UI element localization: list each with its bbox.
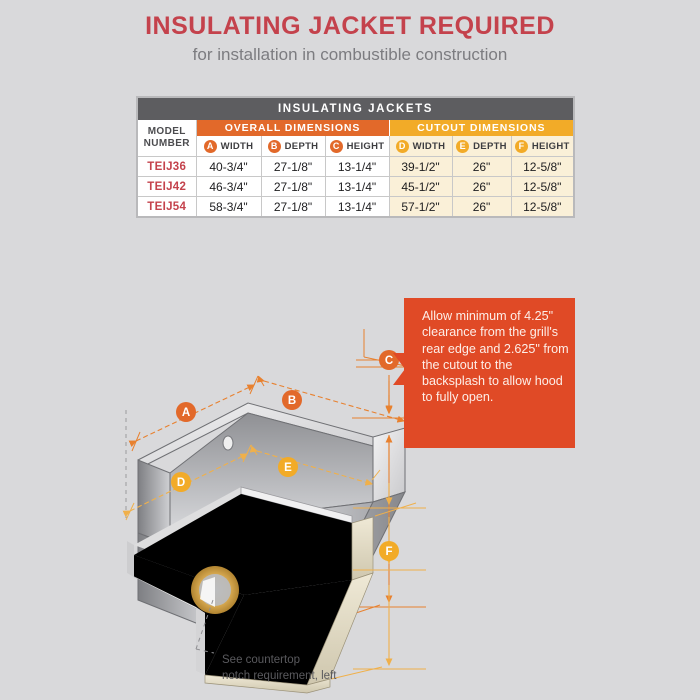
badge-f-icon: F <box>515 140 528 153</box>
badge-b-icon: B <box>268 140 281 153</box>
column-header-f: F HEIGHT <box>511 136 573 157</box>
cell-a: 46-3/4" <box>196 177 261 197</box>
page-title: INSULATING JACKET REQUIRED <box>0 12 700 41</box>
badge-e-icon: E <box>456 140 469 153</box>
badge-f-diagram-label: F <box>385 546 392 558</box>
cell-e: 26" <box>452 197 511 217</box>
cell-f: 12-5/8" <box>511 157 573 177</box>
table-band-title: INSULATING JACKETS <box>138 98 573 120</box>
badge-a-diagram-label: A <box>182 407 190 419</box>
cell-a: 40-3/4" <box>196 157 261 177</box>
model-header-line1: MODEL <box>138 126 196 138</box>
cell-b: 27-1/8" <box>261 177 325 197</box>
cell-d: 57-1/2" <box>389 197 452 217</box>
cell-e: 26" <box>452 157 511 177</box>
table-row: TEIJ36 40-3/4" 27-1/8" 13-1/4" 39-1/2" 2… <box>138 157 573 177</box>
cell-c: 13-1/4" <box>325 177 389 197</box>
notch-caption-line1: See countertop <box>222 652 422 668</box>
column-header-e: E DEPTH <box>452 136 511 157</box>
cell-model: TEIJ54 <box>138 197 196 217</box>
cell-c: 13-1/4" <box>325 157 389 177</box>
installation-diagrams: A B C <box>0 255 700 700</box>
page-root: INSULATING JACKET REQUIRED for installat… <box>0 0 700 700</box>
badge-e-diagram-label: E <box>284 462 292 474</box>
cell-c: 13-1/4" <box>325 197 389 217</box>
column-label-f: HEIGHT <box>532 141 570 152</box>
table-model-header: MODEL NUMBER <box>138 120 196 157</box>
badge-a-icon: A <box>204 140 217 153</box>
cell-f: 12-5/8" <box>511 177 573 197</box>
cell-a: 58-3/4" <box>196 197 261 217</box>
clearance-callout: Allow minimum of 4.25" clearance from th… <box>404 298 575 448</box>
badge-d-diagram-label: D <box>177 477 185 489</box>
page-subtitle: for installation in combustible construc… <box>0 45 700 65</box>
column-label-b: DEPTH <box>285 141 319 152</box>
notch-caption-line2: notch requirement, left <box>222 668 422 684</box>
badge-c-icon: C <box>330 140 343 153</box>
cell-d: 45-1/2" <box>389 177 452 197</box>
table-row: TEIJ54 58-3/4" 27-1/8" 13-1/4" 57-1/2" 2… <box>138 197 573 217</box>
table-group-cutout: CUTOUT DIMENSIONS <box>389 120 573 136</box>
column-header-a: A WIDTH <box>196 136 261 157</box>
badge-c-diagram-label: C <box>385 355 393 367</box>
column-label-c: HEIGHT <box>347 141 385 152</box>
cell-b: 27-1/8" <box>261 157 325 177</box>
clearance-callout-text: Allow minimum of 4.25" clearance from th… <box>422 308 570 406</box>
cell-d: 39-1/2" <box>389 157 452 177</box>
notch-caption: See countertop notch requirement, left <box>222 652 422 684</box>
insulating-jackets-table: INSULATING JACKETS MODEL NUMBER OVERALL … <box>136 96 575 218</box>
cell-model: TEIJ36 <box>138 157 196 177</box>
table-row: TEIJ42 46-3/4" 27-1/8" 13-1/4" 45-1/2" 2… <box>138 177 573 197</box>
model-header-line2: NUMBER <box>138 138 196 150</box>
cell-model: TEIJ42 <box>138 177 196 197</box>
cell-f: 12-5/8" <box>511 197 573 217</box>
column-label-d: WIDTH <box>413 141 446 152</box>
column-header-d: D WIDTH <box>389 136 452 157</box>
badge-d-icon: D <box>396 140 409 153</box>
badge-b-diagram-label: B <box>288 395 296 407</box>
cell-e: 26" <box>452 177 511 197</box>
column-header-c: C HEIGHT <box>325 136 389 157</box>
column-label-e: DEPTH <box>473 141 507 152</box>
column-header-b: B DEPTH <box>261 136 325 157</box>
notch-highlight <box>191 566 239 614</box>
cell-b: 27-1/8" <box>261 197 325 217</box>
table-group-overall: OVERALL DIMENSIONS <box>196 120 389 136</box>
column-label-a: WIDTH <box>221 141 254 152</box>
